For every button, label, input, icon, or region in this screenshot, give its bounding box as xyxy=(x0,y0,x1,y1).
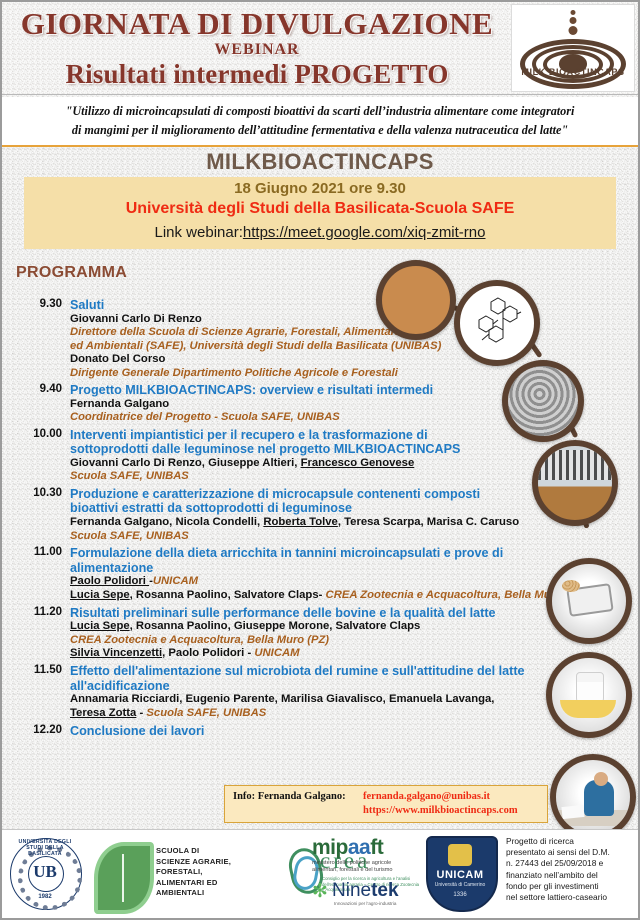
event-details-box: 18 Giugno 2021 ore 9.30 Università degli… xyxy=(24,177,616,249)
mipaaft-wordmark: mipaaft xyxy=(312,836,383,860)
poster-title-line2: WEBINAR xyxy=(2,41,512,59)
programme-item-time: 10.30 xyxy=(18,487,62,499)
contact-website[interactable]: https://www.milkbioactincaps.com xyxy=(363,805,518,816)
programme-item-speakers: Silvia Vincenzetti, Paolo Polidori - UNI… xyxy=(70,647,562,661)
mipaaft-word-c: ft xyxy=(370,836,383,859)
programme-item-title: Conclusione dei lavori xyxy=(70,724,562,739)
programme-item-title: all'acidificazione xyxy=(70,679,562,694)
leaf-vein-detail xyxy=(122,854,124,902)
ninetek-subtitle: Innovazioni per l'agro-industria xyxy=(334,901,396,906)
mipaaft-word-a: mip xyxy=(312,836,348,859)
ninetek-logo: ✻ Ninetek Innovazioni per l'agro-industr… xyxy=(312,880,432,914)
safe-line-5: AMBIENTALI xyxy=(156,888,282,899)
photo-researcher-lab xyxy=(550,754,636,840)
programme-item-time: 12.20 xyxy=(18,724,62,736)
contact-info-box: Info: Fernanda Galgano: fernanda.galgano… xyxy=(224,785,548,823)
programme-item: 12.20Conclusione dei lavori xyxy=(2,724,562,739)
unibas-ring-text: UNIVERSITA DEGLI STUDI DELLA BASILICATA xyxy=(10,839,80,857)
photo-granules-powder xyxy=(376,260,456,340)
programme-item-affiliation: Dirigente Generale Dipartimento Politich… xyxy=(70,367,562,381)
programme-item-body: Effetto dell'alimentazione sul microbiot… xyxy=(70,664,562,721)
programme-item-body: Risultati preliminari sulle performance … xyxy=(70,606,562,662)
programme-item-title: Formulazione della dieta arricchita in t… xyxy=(70,546,562,561)
programme-item-affiliation: Coordinatrice del Progetto - Scuola SAFE… xyxy=(70,411,562,425)
programme-item-speakers: Lucia Sepe, Rosanna Paolino, Giuseppe Mo… xyxy=(70,620,562,634)
ninetek-word-bold: tek xyxy=(371,880,398,901)
funding-note-line-2: presentato ai sensi del D.M. xyxy=(506,847,636,858)
photo-cattle-barn xyxy=(532,440,618,526)
mipaaft-subtitle-2: alimentari, forestali e del turismo xyxy=(312,867,428,874)
unibas-year: 1982 xyxy=(10,894,80,900)
mipaaft-subtitle-1: ministero delle politiche agricole xyxy=(312,860,428,867)
programme-item-time: 9.30 xyxy=(18,298,62,310)
programme-item-speakers: Lucia Sepe, Rosanna Paolino, Salvatore C… xyxy=(70,589,562,603)
unibas-monogram: UB xyxy=(28,862,62,882)
programme-item: 10.00Interventi impiantistici per il rec… xyxy=(2,428,562,484)
event-location: Università degli Studi della Basilicata-… xyxy=(24,200,616,218)
mipaaft-word-b: aa xyxy=(348,836,370,859)
funding-note-line-1: Progetto di ricerca xyxy=(506,836,636,847)
programme-item-time: 11.50 xyxy=(18,664,62,676)
programme-item-time: 11.00 xyxy=(18,546,62,558)
funding-note-line-4: finanziato nell’ambito del xyxy=(506,870,636,881)
chemical-structure-icon xyxy=(472,296,522,350)
project-quote: "Utilizzo di microincapsulati di compost… xyxy=(2,97,638,147)
unicam-crest-icon xyxy=(448,844,472,866)
programme-item-body: Formulazione della dieta arricchita in t… xyxy=(70,546,562,603)
programme-item-title: Risultati preliminari sulle performance … xyxy=(70,606,562,621)
ninetek-wordmark: Ninetek xyxy=(332,880,399,902)
contact-email[interactable]: fernanda.galgano@unibas.it xyxy=(363,791,490,802)
cheese-dish-detail xyxy=(560,700,616,718)
poster-header: GIORNATA DI DIVULGAZIONE WEBINAR Risulta… xyxy=(2,2,638,95)
webinar-link-row: Link webinar:https://meet.google.com/xiq… xyxy=(24,224,616,241)
lab-paper-detail xyxy=(561,805,584,819)
safe-school-logo: SCUOLA DI SCIENZE AGRARIE, FORESTALI, AL… xyxy=(94,838,284,910)
programme-item-affiliation: CREA Zootecnia e Acquacoltura, Bella Mur… xyxy=(70,634,562,648)
programme-item-title: sottoprodotti dalle leguminose nel proge… xyxy=(70,442,562,457)
poster-footer: UNIVERSITA DEGLI STUDI DELLA BASILICATA … xyxy=(2,829,638,918)
funding-note: Progetto di ricerca presentato ai sensi … xyxy=(506,836,636,903)
programme-item-body: Progetto MILKBIOACTINCAPS: overview e ri… xyxy=(70,383,562,425)
logo-droplet-large-icon xyxy=(569,26,578,35)
project-name-heading: MILKBIOACTINCAPS xyxy=(2,149,638,175)
programme-heading: PROGRAMMA xyxy=(16,264,127,282)
safe-line-1: SCUOLA DI xyxy=(156,846,282,857)
funding-note-line-5: fondo per gli investimenti xyxy=(506,881,636,892)
programme-item-speakers: Giovanni Carlo Di Renzo, Giuseppe Altier… xyxy=(70,457,562,471)
programme-item-speakers: Fernanda Galgano xyxy=(70,398,562,412)
funding-note-line-3: n. 27443 del 25/09/2018 e xyxy=(506,858,636,869)
mipaaft-subtitle: ministero delle politiche agricole alime… xyxy=(312,860,428,874)
poster-title-line3: Risultati intermedi PROGETTO xyxy=(2,59,512,90)
programme-item-speakers: Teresa Zotta - Scuola SAFE, UNIBAS xyxy=(70,707,562,721)
unibas-logo: UNIVERSITA DEGLI STUDI DELLA BASILICATA … xyxy=(10,838,82,910)
contact-label: Info: Fernanda Galgano: xyxy=(233,791,346,802)
safe-line-2: SCIENZE AGRARIE, xyxy=(156,857,282,868)
ninetek-star-icon: ✻ xyxy=(312,883,330,901)
programme-item-body: Interventi impiantistici per il recupero… xyxy=(70,428,562,484)
photo-microscopy-microcapsules xyxy=(502,360,584,442)
unicam-logo: UNICAM Università di Camerino 1336 xyxy=(426,836,498,914)
programme-item-affiliation: Scuola SAFE, UNIBAS xyxy=(70,470,562,484)
logo-droplet-medium-icon xyxy=(570,17,577,24)
photo-lab-filtration xyxy=(546,558,632,644)
programme-item: 11.00Formulazione della dieta arricchita… xyxy=(2,546,562,603)
unicam-year: 1336 xyxy=(426,892,494,898)
webinar-link-url[interactable]: https://meet.google.com/xiq-zmit-rno xyxy=(243,224,486,241)
programme-item-affiliation: Scuola SAFE, UNIBAS xyxy=(70,530,562,544)
logo-wordmark: MILK BIOACTINCAPS xyxy=(512,67,634,77)
photo-milk-sample xyxy=(546,652,632,738)
programme-item: 11.20Risultati preliminari sulle perform… xyxy=(2,606,562,662)
programme-list: 9.30SalutiGiovanni Carlo Di RenzoDiretto… xyxy=(2,298,562,741)
programme-item-time: 11.20 xyxy=(18,606,62,618)
programme-item-title: Progetto MILKBIOACTINCAPS: overview e ri… xyxy=(70,383,562,398)
leaf-icon xyxy=(94,842,154,914)
safe-school-text: SCUOLA DI SCIENZE AGRARIE, FORESTALI, AL… xyxy=(156,846,282,899)
programme-item-time: 9.40 xyxy=(18,383,62,395)
programme-item: 10.30Produzione e caratterizzazione di m… xyxy=(2,487,562,543)
programme-item-title: alimentazione xyxy=(70,561,562,576)
unicam-subtitle: Università di Camerino xyxy=(426,882,494,888)
programme-item: 11.50Effetto dell'alimentazione sul micr… xyxy=(2,664,562,721)
programme-item-title: bioattivi estratti da sottoprodotti di l… xyxy=(70,501,562,516)
event-date: 18 Giugno 2021 ore 9.30 xyxy=(24,180,616,197)
safe-line-4: ALIMENTARI ED xyxy=(156,878,282,889)
lab-granules-detail xyxy=(562,580,580,592)
safe-line-3: FORESTALI, xyxy=(156,867,282,878)
programme-item-time: 10.00 xyxy=(18,428,62,440)
photo-chemical-structure xyxy=(454,280,540,366)
quote-line-2: di mangimi per il miglioramento dell’att… xyxy=(72,121,568,140)
unicam-wordmark: UNICAM xyxy=(426,869,494,881)
programme-item-speakers: Paolo Polidori -UNICAM xyxy=(70,575,562,589)
programme-item-title: Effetto dell'alimentazione sul microbiot… xyxy=(70,664,562,679)
programme-item-speakers: Annamaria Ricciardi, Eugenio Parente, Ma… xyxy=(70,693,562,707)
poster-title-line1: GIORNATA DI DIVULGAZIONE xyxy=(2,6,512,42)
webinar-link-label: Link webinar: xyxy=(155,224,243,241)
milk-drop-ripple-logo: MILK BIOACTINCAPS xyxy=(511,4,635,92)
programme-item-title: Produzione e caratterizzazione di microc… xyxy=(70,487,562,502)
ninetek-word-light: Nine xyxy=(332,880,371,901)
logo-droplet-small-icon xyxy=(571,10,576,15)
mipaaft-logo: mipaaft ministero delle politiche agrico… xyxy=(312,836,432,878)
funding-note-line-6: nel settore lattiero-caseario xyxy=(506,892,636,903)
poster-root: GIORNATA DI DIVULGAZIONE WEBINAR Risulta… xyxy=(0,0,640,920)
programme-item-body: Produzione e caratterizzazione di microc… xyxy=(70,487,562,543)
programme-item-body: Conclusione dei lavori xyxy=(70,724,562,739)
quote-line-1: "Utilizzo di microincapsulati di compost… xyxy=(66,102,575,121)
researcher-head-detail xyxy=(594,772,608,786)
programme-item: 9.40Progetto MILKBIOACTINCAPS: overview … xyxy=(2,383,562,425)
programme-item-speakers: Fernanda Galgano, Nicola Condelli, Rober… xyxy=(70,516,562,530)
cattle-row-detail xyxy=(538,450,612,480)
programme-item-title: Interventi impiantistici per il recupero… xyxy=(70,428,562,443)
